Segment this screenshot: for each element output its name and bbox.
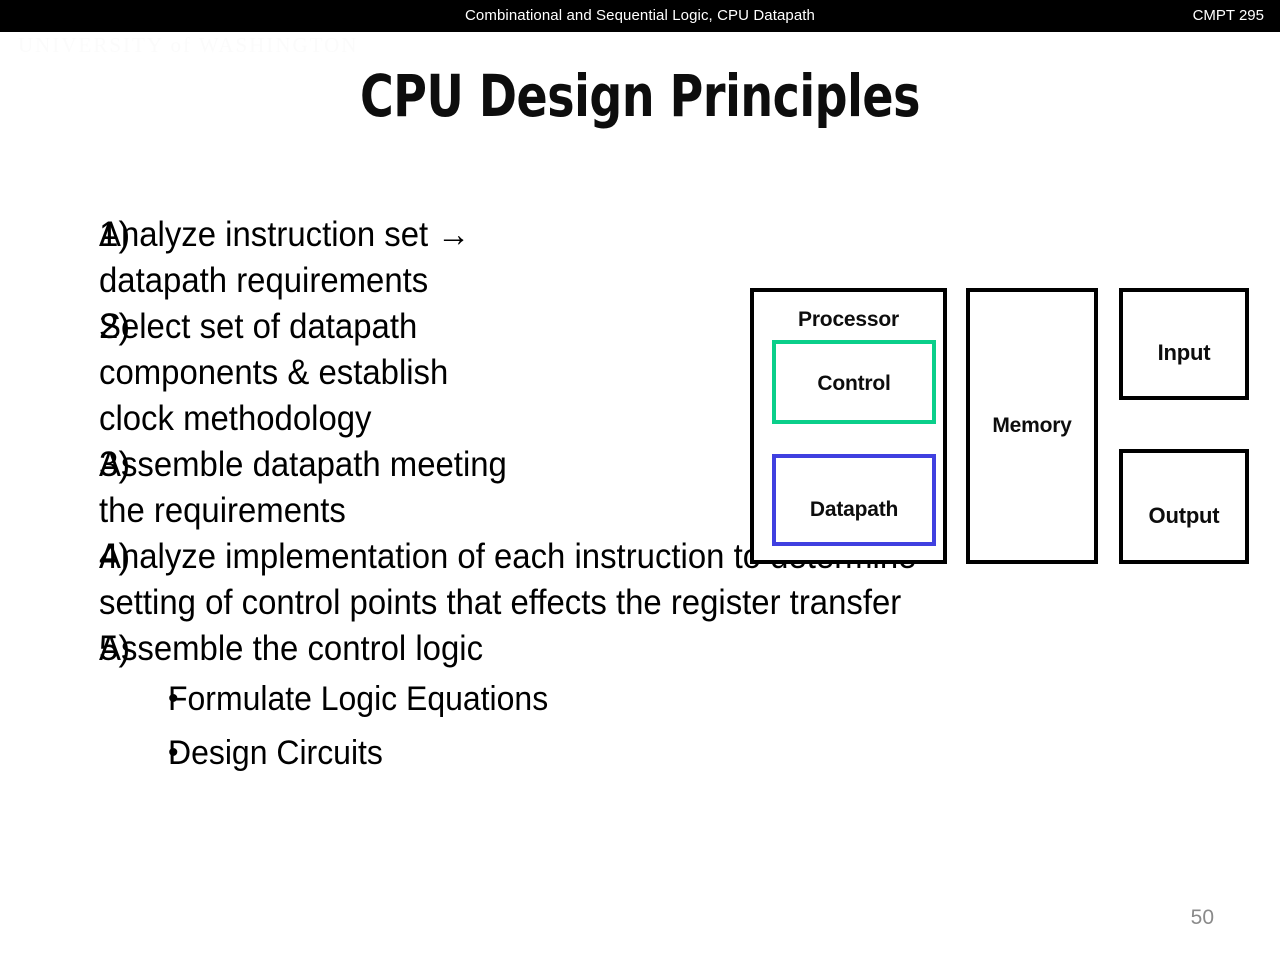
list-item-text: Assemble the control logic	[99, 626, 1105, 672]
page-title: CPU Design Principles	[77, 62, 1203, 130]
list-item-marker: 4)	[0, 534, 99, 580]
sub-list-item: • Design Circuits	[0, 726, 1190, 780]
sub-list-item-text: Design Circuits	[168, 726, 1129, 780]
diagram-box-input: Input	[1119, 288, 1249, 400]
header-bar: Combinational and Sequential Logic, CPU …	[0, 0, 1280, 32]
diagram-box-memory: Memory	[966, 288, 1098, 564]
diagram-label-memory: Memory	[970, 414, 1094, 438]
sub-list-item: • Formulate Logic Equations	[0, 672, 1190, 726]
list-item-text: Select set of datapath components & esta…	[99, 304, 597, 442]
bullet-dot-icon: •	[0, 726, 168, 780]
list-item-text: Analyze instruction set → datapath requi…	[99, 212, 597, 304]
diagram-box-datapath: Datapath	[772, 454, 936, 546]
list-item-marker: 5)	[0, 626, 99, 672]
list-item-marker: 2)	[0, 304, 99, 350]
list-item: 5) Assemble the control logic	[0, 626, 1190, 672]
diagram-box-output: Output	[1119, 449, 1249, 564]
computer-block-diagram: Processor Control Datapath Memory Input …	[748, 286, 1253, 566]
diagram-label-control: Control	[776, 372, 932, 396]
header-title: Combinational and Sequential Logic, CPU …	[0, 0, 1280, 32]
sub-list-item-text: Formulate Logic Equations	[168, 672, 1129, 726]
list-item-text: Assemble datapath meeting the requiremen…	[99, 442, 597, 534]
header-course-code: CMPT 295	[1193, 0, 1264, 32]
page-number: 50	[1191, 906, 1214, 930]
list-item-marker: 1)	[0, 212, 99, 258]
bullet-dot-icon: •	[0, 672, 168, 726]
diagram-box-processor: Processor Control Datapath	[750, 288, 947, 564]
diagram-box-control: Control	[772, 340, 936, 424]
diagram-label-processor: Processor	[754, 308, 943, 332]
list-item-marker: 3)	[0, 442, 99, 488]
diagram-label-datapath: Datapath	[776, 498, 932, 522]
university-watermark: UNIVERSITY of WASHINGTON	[18, 33, 358, 58]
diagram-label-output: Output	[1123, 503, 1245, 529]
diagram-label-input: Input	[1123, 340, 1245, 366]
